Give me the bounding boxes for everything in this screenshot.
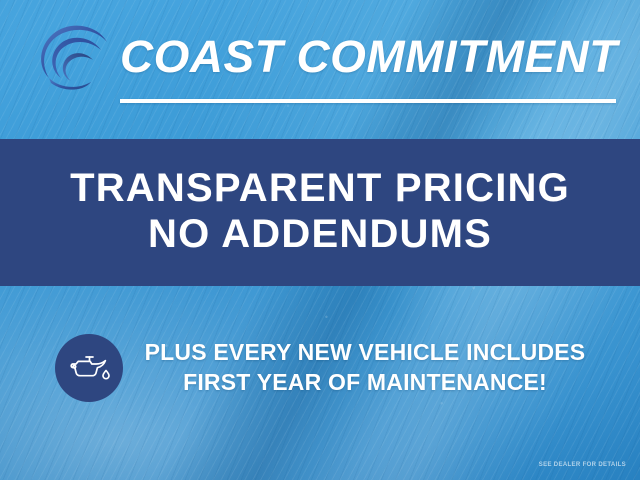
oil-can-badge (55, 334, 123, 402)
pricing-band: TRANSPARENT PRICING NO ADDENDUMS (0, 139, 640, 286)
disclaimer-text: SEE DEALER FOR DETAILS (539, 462, 626, 468)
banner-header: COAST COMMITMENT (0, 0, 640, 138)
promo-line-2: FIRST YEAR OF MAINTENANCE! (183, 368, 547, 398)
pricing-headline-2: NO ADDENDUMS (148, 212, 492, 257)
promo-text-block: PLUS EVERY NEW VEHICLE INCLUDES FIRST YE… (145, 338, 586, 398)
wave-swirl-logo-icon (33, 20, 115, 92)
coast-commitment-banner: COAST COMMITMENT TRANSPARENT PRICING NO … (0, 0, 640, 480)
pricing-headline-1: TRANSPARENT PRICING (70, 166, 570, 211)
page-title: COAST COMMITMENT (120, 25, 630, 87)
maintenance-promo: PLUS EVERY NEW VEHICLE INCLUDES FIRST YE… (0, 325, 640, 410)
promo-line-1: PLUS EVERY NEW VEHICLE INCLUDES (145, 338, 586, 368)
header-divider-rule (120, 99, 616, 103)
